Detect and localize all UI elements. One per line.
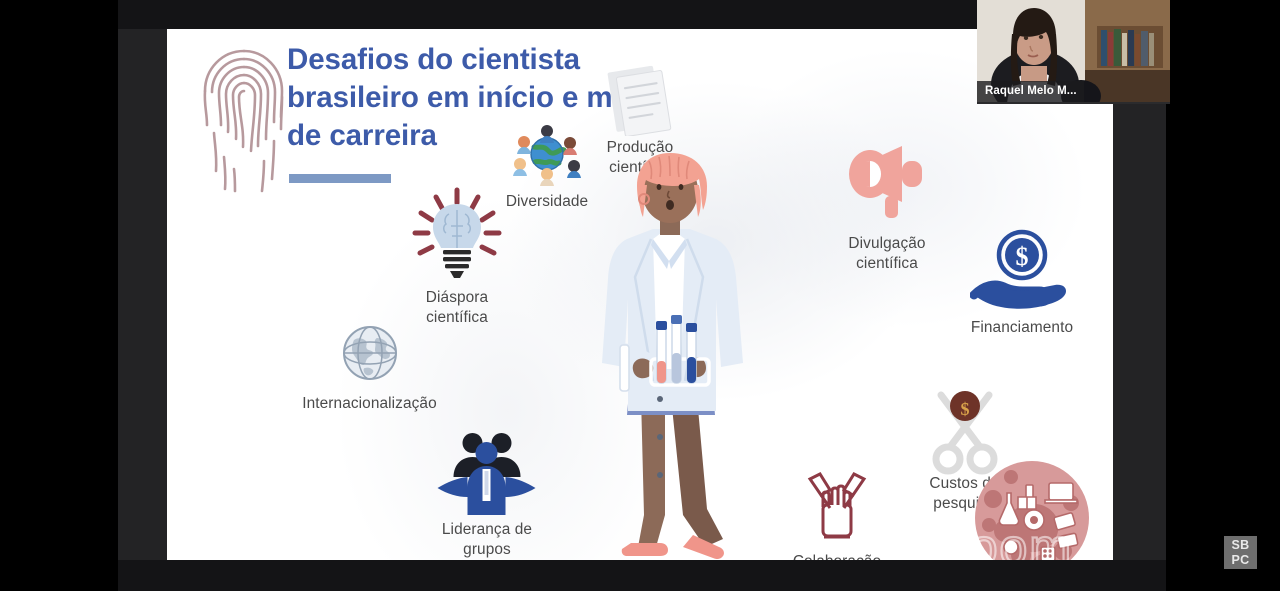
brain-bulb-icon (405, 184, 509, 288)
shared-slide[interactable]: Desafios do cientista brasileiro em iníc… (167, 29, 1113, 560)
handshake-icon (796, 469, 878, 547)
item-label: Internacionalização (302, 394, 437, 414)
item-financiamento[interactable]: $ Financiamento (927, 229, 1113, 354)
screen-root: Desafios do cientista brasileiro em iníc… (0, 0, 1280, 591)
item-label: Colaboração (793, 552, 881, 560)
item-label: Divulgação científica (832, 234, 942, 273)
participant-name-label: Raquel Melo M... (977, 81, 1084, 102)
fingerprint-icon (184, 35, 304, 200)
item-internacionalizacao[interactable]: Internacionalização (272, 324, 467, 434)
sbpc-logo-line1: SB (1232, 538, 1250, 553)
svg-text:$: $ (1016, 242, 1029, 271)
science-collage-icon (971, 459, 1093, 560)
participant-video-tile[interactable]: Raquel Melo M... (977, 0, 1170, 104)
item-ciencia-collage (967, 459, 1097, 560)
stage-bottom-band (118, 560, 1166, 591)
title-accent-rule (289, 174, 391, 183)
hand-coin-icon: $ (970, 229, 1074, 319)
team-leader-icon (435, 427, 540, 517)
megaphone-icon (840, 139, 934, 221)
item-label: Financiamento (971, 318, 1073, 338)
world-globe-icon (341, 324, 399, 382)
svg-text:$: $ (960, 399, 969, 419)
sbpc-logo-line2: PC (1232, 553, 1250, 568)
sbpc-logo: SB PC (1224, 536, 1257, 569)
scientist-illustration (565, 147, 773, 559)
item-label: Liderança de grupos Liderança colaborati… (425, 520, 550, 560)
item-label: Diáspora científica (407, 288, 507, 327)
item-diaspora-cientifica[interactable]: Diáspora científica (357, 184, 557, 314)
